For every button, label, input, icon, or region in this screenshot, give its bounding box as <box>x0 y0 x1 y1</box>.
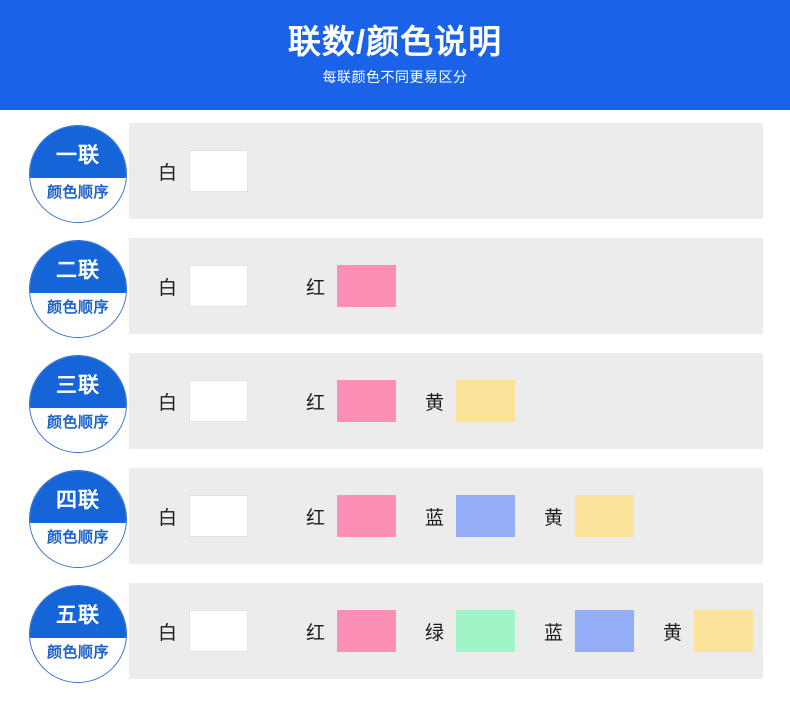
color-swatch <box>189 380 248 422</box>
color-name-label: 绿 <box>425 618 444 645</box>
badge-title: 四联 <box>56 484 100 514</box>
color-swatch <box>456 495 515 537</box>
color-name-label: 红 <box>306 503 325 530</box>
color-swatch <box>189 265 248 307</box>
badge-bottom-half: 颜色顺序 <box>30 638 126 682</box>
color-name-label: 白 <box>158 503 177 530</box>
color-row: 四联颜色顺序白红蓝黄 <box>0 468 790 564</box>
page-header-banner: 联数/颜色说明 每联颜色不同更易区分 <box>0 0 790 110</box>
color-row: 五联颜色顺序白红绿蓝黄 <box>0 583 790 679</box>
color-name-label: 白 <box>158 273 177 300</box>
badge-title: 二联 <box>56 254 100 284</box>
color-swatch <box>337 380 396 422</box>
color-swatch <box>337 495 396 537</box>
copy-count-badge: 一联颜色顺序 <box>29 125 127 223</box>
color-row: 一联颜色顺序白 <box>0 123 790 219</box>
color-pair: 黄 <box>544 495 663 537</box>
badge-caption: 颜色顺序 <box>47 411 109 432</box>
color-swatch <box>575 495 634 537</box>
color-name-label: 黄 <box>544 503 563 530</box>
badge-title: 一联 <box>56 139 100 169</box>
color-name-label: 红 <box>306 618 325 645</box>
color-pair: 蓝 <box>425 495 544 537</box>
color-name-label: 白 <box>158 388 177 415</box>
color-order-rows: 一联颜色顺序白二联颜色顺序白红三联颜色顺序白红黄四联颜色顺序白红蓝黄五联颜色顺序… <box>0 110 790 719</box>
color-pair-list: 白 <box>129 123 306 219</box>
color-pair: 红 <box>306 495 425 537</box>
color-pair-list: 白红绿蓝黄 <box>129 583 782 679</box>
color-pair: 黄 <box>425 380 544 422</box>
color-swatch <box>575 610 634 652</box>
color-swatch <box>189 495 248 537</box>
badge-top-half: 四联 <box>30 471 126 523</box>
copy-count-badge: 三联颜色顺序 <box>29 355 127 453</box>
color-pair-list: 白红黄 <box>129 353 544 449</box>
color-swatch <box>189 610 248 652</box>
color-pair: 红 <box>306 610 425 652</box>
copy-count-badge: 五联颜色顺序 <box>29 585 127 683</box>
page-subtitle: 每联颜色不同更易区分 <box>323 67 468 87</box>
color-swatch <box>456 610 515 652</box>
color-pair: 红 <box>306 380 425 422</box>
badge-caption: 颜色顺序 <box>47 641 109 662</box>
color-swatch <box>189 150 248 192</box>
badge-bottom-half: 颜色顺序 <box>30 408 126 452</box>
color-pair: 白 <box>129 495 306 537</box>
badge-caption: 颜色顺序 <box>47 296 109 317</box>
color-name-label: 白 <box>158 618 177 645</box>
color-name-label: 蓝 <box>425 503 444 530</box>
badge-bottom-half: 颜色顺序 <box>30 523 126 567</box>
copy-count-badge: 四联颜色顺序 <box>29 470 127 568</box>
color-pair: 白 <box>129 610 306 652</box>
color-row: 二联颜色顺序白红 <box>0 238 790 334</box>
badge-top-half: 三联 <box>30 356 126 408</box>
badge-caption: 颜色顺序 <box>47 526 109 547</box>
page-title: 联数/颜色说明 <box>288 23 502 61</box>
color-name-label: 黄 <box>425 388 444 415</box>
color-swatch <box>456 380 515 422</box>
badge-caption: 颜色顺序 <box>47 181 109 202</box>
copy-count-badge: 二联颜色顺序 <box>29 240 127 338</box>
color-row: 三联颜色顺序白红黄 <box>0 353 790 449</box>
color-pair: 蓝 <box>544 610 663 652</box>
color-swatch <box>337 610 396 652</box>
badge-top-half: 二联 <box>30 241 126 293</box>
color-name-label: 白 <box>158 158 177 185</box>
color-pair: 绿 <box>425 610 544 652</box>
badge-top-half: 一联 <box>30 126 126 178</box>
color-name-label: 红 <box>306 273 325 300</box>
color-pair: 黄 <box>663 610 782 652</box>
color-swatch <box>694 610 753 652</box>
badge-bottom-half: 颜色顺序 <box>30 293 126 337</box>
color-name-label: 黄 <box>663 618 682 645</box>
color-pair-list: 白红蓝黄 <box>129 468 663 564</box>
badge-top-half: 五联 <box>30 586 126 638</box>
color-pair: 白 <box>129 150 306 192</box>
color-pair: 白 <box>129 380 306 422</box>
color-pair: 白 <box>129 265 306 307</box>
color-pair-list: 白红 <box>129 238 425 334</box>
color-name-label: 蓝 <box>544 618 563 645</box>
badge-bottom-half: 颜色顺序 <box>30 178 126 222</box>
badge-title: 五联 <box>56 599 100 629</box>
color-pair: 红 <box>306 265 425 307</box>
badge-title: 三联 <box>56 369 100 399</box>
color-name-label: 红 <box>306 388 325 415</box>
color-swatch <box>337 265 396 307</box>
